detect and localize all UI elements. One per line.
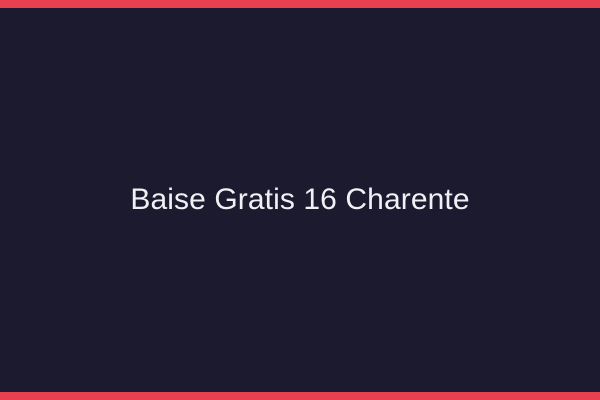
card-body: Baise Gratis 16 Charente [0, 8, 600, 392]
card-title: Baise Gratis 16 Charente [130, 183, 469, 218]
bottom-accent-bar [0, 392, 600, 400]
top-accent-bar [0, 0, 600, 8]
placeholder-card: Baise Gratis 16 Charente [0, 0, 600, 400]
